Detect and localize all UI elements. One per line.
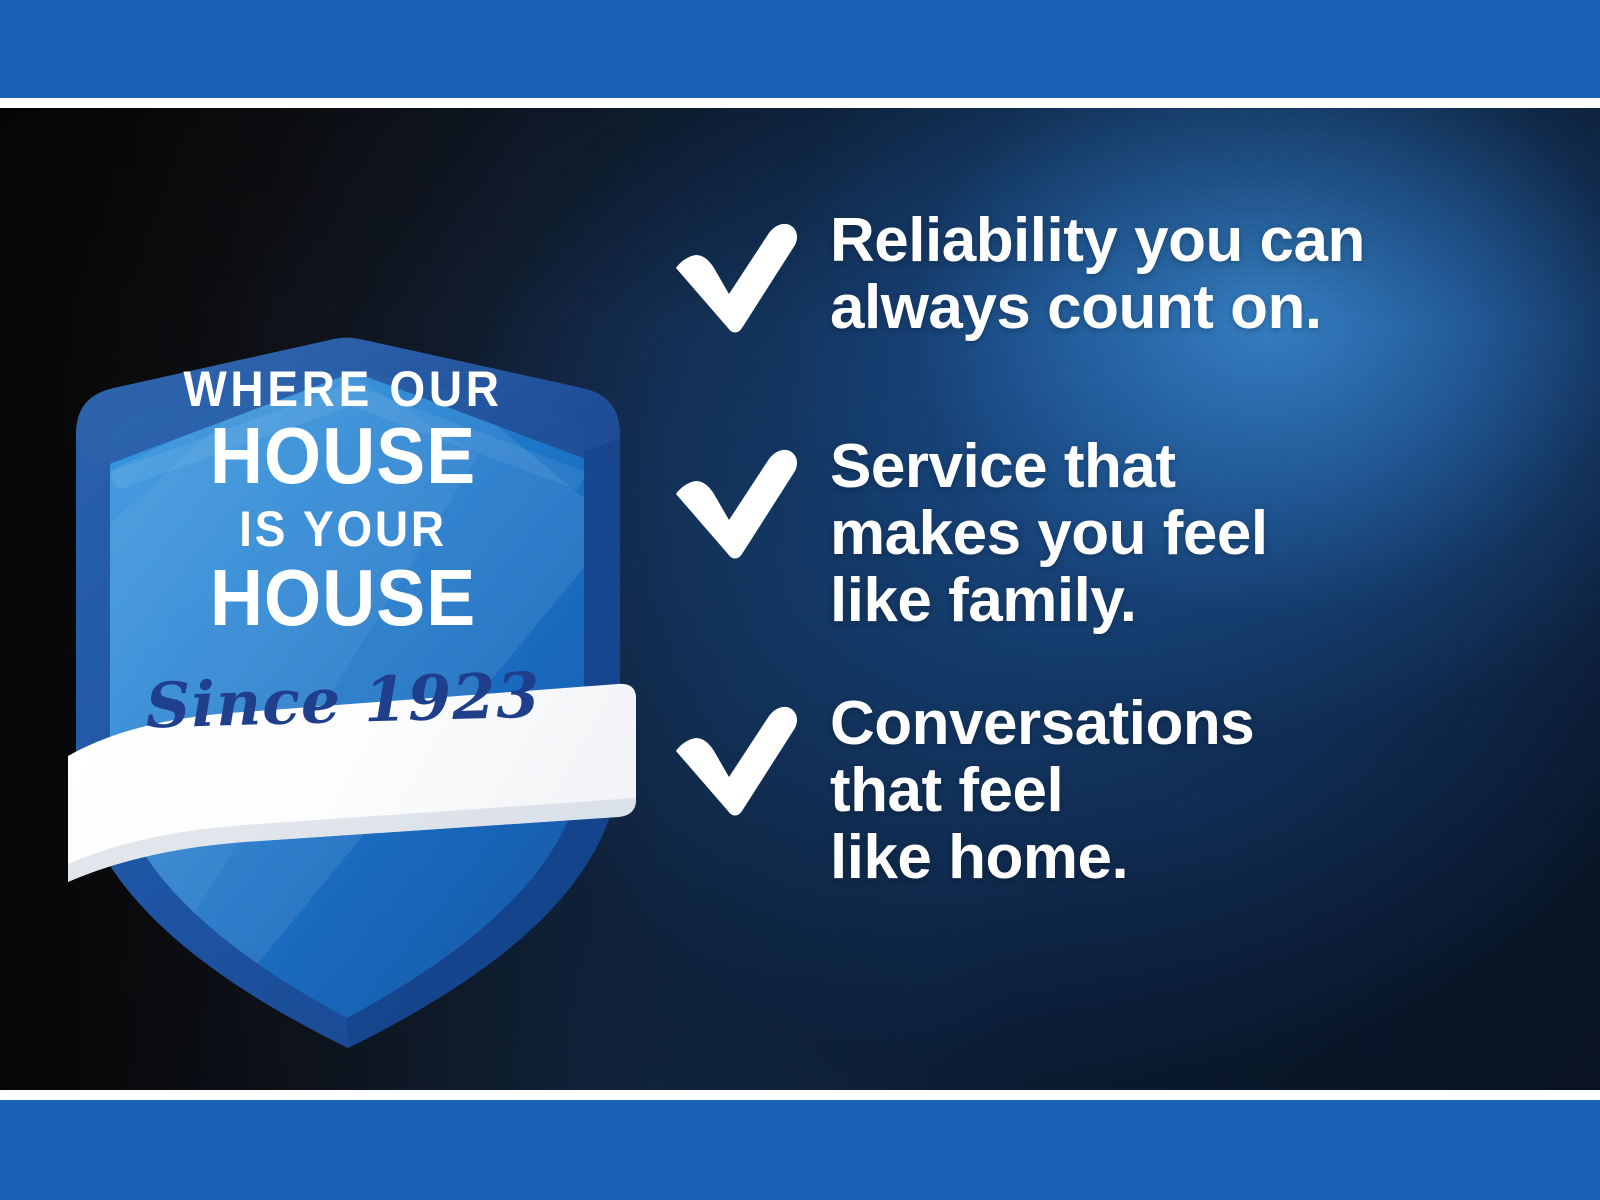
shield-badge-logo: Where our House is your House Since 1923 <box>58 276 628 1036</box>
shield-graphic <box>58 276 628 1036</box>
benefit-text: Conversations that feel like home. <box>830 691 1254 892</box>
promo-poster: Where our House is your House Since 1923… <box>0 0 1600 1200</box>
top-brand-bar <box>0 0 1600 98</box>
check-icon <box>670 222 802 334</box>
benefit-text: Service that makes you feel like family. <box>830 434 1268 635</box>
benefits-list: Reliability you can always count on. Ser… <box>670 208 1490 892</box>
check-icon <box>670 705 802 817</box>
benefit-item: Conversations that feel like home. <box>670 691 1490 892</box>
check-icon <box>670 448 802 560</box>
main-stage: Where our House is your House Since 1923… <box>0 108 1600 1090</box>
benefit-text: Reliability you can always count on. <box>830 208 1365 342</box>
benefit-item: Reliability you can always count on. <box>670 208 1490 342</box>
benefit-item: Service that makes you feel like family. <box>670 434 1490 635</box>
bottom-brand-bar <box>0 1100 1600 1200</box>
